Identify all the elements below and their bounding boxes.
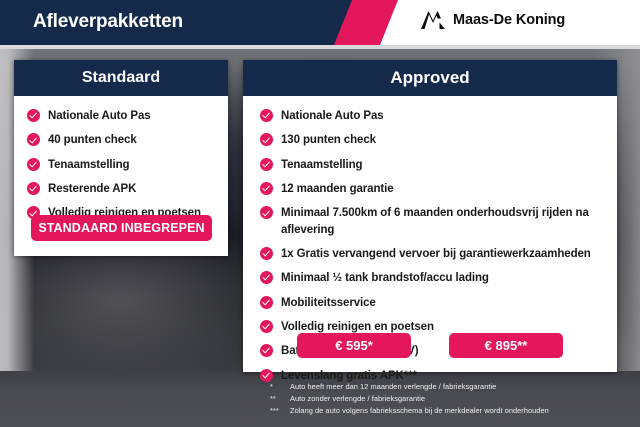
check-circle-icon — [260, 271, 273, 284]
price-button-895[interactable]: € 895** — [449, 333, 563, 358]
price-button-595[interactable]: € 595* — [297, 333, 411, 358]
footnote-item: ** Auto zonder verlengde / fabrieksgaran… — [270, 393, 630, 405]
check-circle-icon — [260, 206, 273, 219]
feature-label: 40 punten check — [48, 132, 137, 148]
check-circle-icon — [260, 109, 273, 122]
list-item: 1x Gratis vervangend vervoer bij garanti… — [243, 246, 617, 262]
feature-label: Nationale Auto Pas — [48, 108, 151, 124]
feature-label: Tenaamstelling — [281, 157, 362, 173]
list-item: Nationale Auto Pas — [243, 108, 617, 124]
footnote-marker: ** — [270, 393, 284, 405]
feature-label: 130 punten check — [281, 132, 376, 148]
footnote-text: Zolang de auto volgens fabrieksschema bi… — [290, 405, 549, 417]
check-circle-icon — [260, 133, 273, 146]
check-circle-icon — [27, 158, 40, 171]
standaard-inbegrepen-button[interactable]: STANDAARD INBEGREPEN — [31, 215, 212, 241]
footnote-item: *** Zolang de auto volgens fabrieksschem… — [270, 405, 630, 417]
page-title: Afleverpakketten — [33, 11, 183, 33]
check-circle-icon — [27, 133, 40, 146]
card-approved: Approved Nationale Auto Pas 130 punten c… — [243, 60, 617, 372]
standaard-feature-list: Nationale Auto Pas 40 punten check Tenaa… — [14, 108, 228, 222]
list-item: Minimaal ½ tank brandstof/accu lading — [243, 270, 617, 286]
footnote-marker: * — [270, 381, 284, 393]
footnotes: * Auto heeft meer dan 12 maanden verleng… — [270, 381, 630, 417]
footnote-marker: *** — [270, 405, 284, 417]
brand-name: Maas-De Koning — [453, 12, 565, 28]
list-item: 130 punten check — [243, 132, 617, 148]
afleverpakketten-page: Afleverpakketten Maas-De Koning Standaar… — [0, 0, 640, 427]
feature-label: 1x Gratis vervangend vervoer bij garanti… — [281, 246, 591, 262]
check-circle-icon — [260, 158, 273, 171]
feature-label: 12 maanden garantie — [281, 181, 394, 197]
check-circle-icon — [260, 296, 273, 309]
list-item: Tenaamstelling — [14, 157, 228, 173]
feature-label: Minimaal 7.500km of 6 maanden onderhouds… — [281, 205, 609, 238]
page-header: Afleverpakketten Maas-De Koning — [0, 0, 640, 45]
price-button-row: € 595* € 895** — [243, 333, 617, 358]
list-item: Mobiliteitsservice — [243, 295, 617, 311]
brand-logo: Maas-De Koning — [420, 10, 565, 30]
list-item: Tenaamstelling — [243, 157, 617, 173]
feature-label: Tenaamstelling — [48, 157, 129, 173]
card-approved-title: Approved — [243, 60, 617, 96]
feature-label: Resterende APK — [48, 181, 136, 197]
card-standaard-title: Standaard — [14, 60, 228, 96]
feature-label: Mobiliteitsservice — [281, 295, 376, 311]
maas-de-koning-m-mark-icon — [420, 10, 446, 30]
check-circle-icon — [260, 369, 273, 382]
feature-label: Nationale Auto Pas — [281, 108, 384, 124]
check-circle-icon — [27, 109, 40, 122]
check-circle-icon — [27, 182, 40, 195]
footnote-item: * Auto heeft meer dan 12 maanden verleng… — [270, 381, 630, 393]
footnote-text: Auto zonder verlengde / fabrieksgarantie — [290, 393, 425, 405]
feature-label: Minimaal ½ tank brandstof/accu lading — [281, 270, 489, 286]
check-circle-icon — [260, 247, 273, 260]
list-item: Resterende APK — [14, 181, 228, 197]
footnote-text: Auto heeft meer dan 12 maanden verlengde… — [290, 381, 496, 393]
card-standaard-body: Nationale Auto Pas 40 punten check Tenaa… — [14, 96, 228, 222]
header-underline — [0, 45, 640, 49]
list-item: Minimaal 7.500km of 6 maanden onderhouds… — [243, 205, 617, 238]
list-item: 12 maanden garantie — [243, 181, 617, 197]
card-standaard: Standaard Nationale Auto Pas 40 punten c… — [14, 60, 228, 256]
list-item: Nationale Auto Pas — [14, 108, 228, 124]
check-circle-icon — [260, 320, 273, 333]
check-circle-icon — [260, 182, 273, 195]
list-item: 40 punten check — [14, 132, 228, 148]
